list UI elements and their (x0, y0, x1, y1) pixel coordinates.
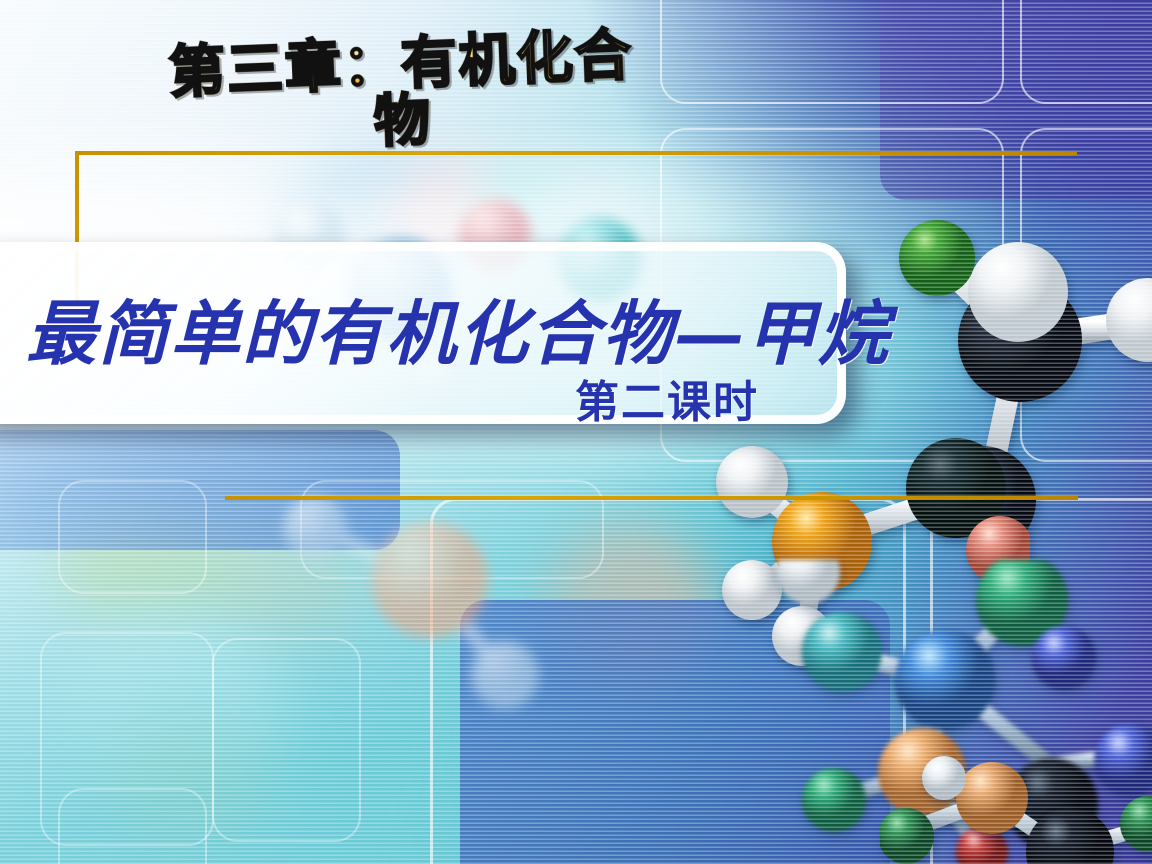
decor-rounded-outline (58, 480, 207, 594)
presentation-slide: 第三章：有机化合 物 最简单的有机化合物—甲烷 第二课时 (0, 0, 1152, 864)
gold-rule-bottom (225, 496, 1078, 500)
chapter-heading-line2: 物 (373, 87, 433, 155)
decor-rounded-outline (300, 480, 604, 579)
decor-rounded-outline (930, 498, 1152, 864)
chapter-heading: 第三章：有机化合 物 (90, 24, 714, 162)
decor-rounded-outline (1020, 0, 1152, 104)
decor-rounded-outline (212, 638, 361, 842)
slide-subtitle: 第二课时 (575, 366, 759, 430)
slide-main-title: 最简单的有机化合物—甲烷 (26, 278, 890, 379)
decor-rounded-outline (58, 788, 207, 864)
decor-rounded-outline (1020, 128, 1152, 462)
